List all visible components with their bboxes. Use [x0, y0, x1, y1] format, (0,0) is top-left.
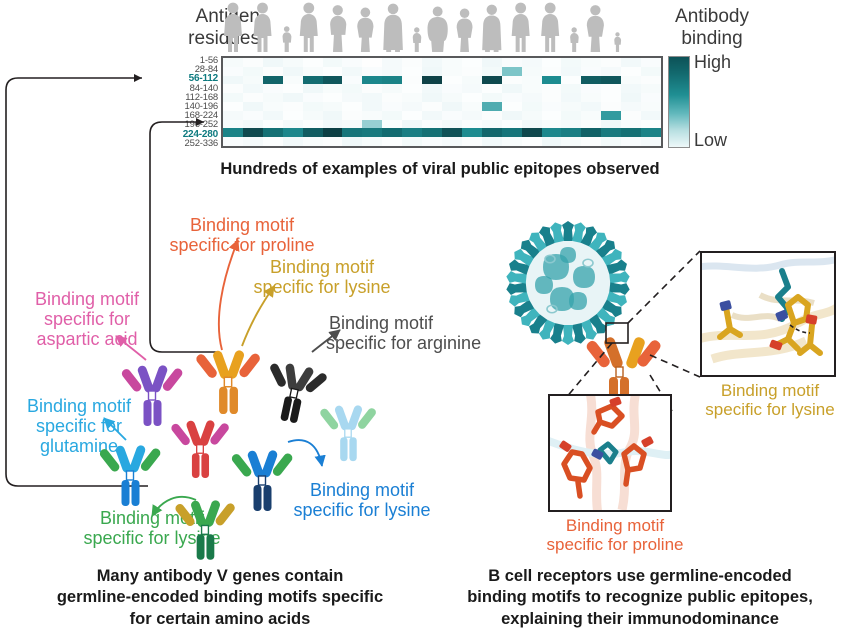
people-svg [218, 2, 668, 54]
heatmap-cell [342, 93, 362, 102]
heatmap-cell [283, 67, 303, 76]
antibody-segment [122, 480, 130, 506]
heatmap-cell [283, 76, 303, 85]
heatmap-cell [621, 111, 641, 120]
heatmap-cell [442, 137, 462, 146]
heatmap-cell [223, 67, 243, 76]
heatmap-cell [462, 102, 482, 111]
heatmap-cell [482, 120, 502, 129]
heatmap-cell [601, 67, 621, 76]
heatmap-cell [362, 58, 382, 67]
heatmap-cell [542, 67, 562, 76]
heatmap-cell [522, 128, 542, 137]
heatmap-cell [522, 67, 542, 76]
heatmap-cell [223, 76, 243, 85]
heatmap-cell [502, 102, 522, 111]
person-child [283, 26, 292, 52]
antibody-segment [254, 485, 262, 511]
virus-inner-protein [569, 292, 587, 310]
heatmap-caption: Hundreds of examples of viral public epi… [180, 160, 700, 179]
heatmap-cell [561, 102, 581, 111]
heatmap-cell [561, 120, 581, 129]
heatmap-cell [402, 76, 422, 85]
heatmap-cell [542, 128, 562, 137]
heatmap-cell [581, 84, 601, 93]
heatmap-cell [601, 58, 621, 67]
heatmap-cell [601, 120, 621, 129]
heatmap-cell [641, 128, 661, 137]
heatmap-cell [641, 102, 661, 111]
heatmap-cell [462, 93, 482, 102]
heatmap-cell [542, 120, 562, 129]
heatmap-cell [382, 58, 402, 67]
heatmap-cell [422, 128, 442, 137]
heatmap-cell [502, 58, 522, 67]
antibody-segment [127, 471, 134, 480]
inset-proline [548, 394, 672, 512]
antibody-segment [154, 400, 162, 426]
heatmap-cell [362, 67, 382, 76]
heatmap-cell [303, 137, 323, 146]
heatmap-cell [442, 93, 462, 102]
heatmap-cell [542, 137, 562, 146]
antibody-segment [149, 391, 156, 400]
heatmap-cell [522, 76, 542, 85]
heatmap[interactable] [221, 56, 663, 148]
heatmap-cell [621, 137, 641, 146]
antibody-segment [219, 387, 227, 414]
person-elder-heavy [428, 7, 448, 52]
heatmap-cell [342, 84, 362, 93]
antibody-navy [230, 449, 294, 511]
heatmap-cell [621, 93, 641, 102]
antibody-segment [197, 534, 205, 559]
person-elder-gown [383, 4, 403, 52]
heatmap-cell [243, 111, 263, 120]
heatmap-cell [482, 93, 502, 102]
heatmap-cell [442, 76, 462, 85]
heatmap-cell [283, 111, 303, 120]
heatmap-cell [581, 93, 601, 102]
antibody-purple [120, 364, 184, 426]
antibody-segment [264, 485, 272, 511]
heatmap-cell [243, 137, 263, 146]
heatmap-cell [482, 111, 502, 120]
heatmap-cell [402, 67, 422, 76]
heatmap-cell [502, 67, 522, 76]
person-adult-male [224, 3, 242, 52]
heatmap-cell [263, 67, 283, 76]
heatmap-cell [442, 58, 462, 67]
heatmap-cell [323, 93, 343, 102]
heatmap-cell [522, 111, 542, 120]
heatmap-cell [402, 84, 422, 93]
heatmap-cell [641, 111, 661, 120]
inset-lysine-svg [702, 253, 834, 375]
heatmap-cell [323, 84, 343, 93]
antibody-field [0, 200, 450, 560]
heatmap-cell [581, 58, 601, 67]
person-adult-male [254, 3, 272, 52]
heatmap-cell [542, 84, 562, 93]
heatmap-cell [641, 84, 661, 93]
heatmap-cell [283, 120, 303, 129]
heatmap-cell [502, 128, 522, 137]
heatmap-cell [422, 137, 442, 146]
heatmap-cell [402, 102, 422, 111]
heatmap-cell [382, 128, 402, 137]
heatmap-cell [522, 93, 542, 102]
inset-lysine-label: Binding motif specific for lysine [690, 381, 850, 419]
heatmap-cell [303, 58, 323, 67]
heatmap-cell [223, 93, 243, 102]
heatmap-cell [621, 67, 641, 76]
heatmap-cell [283, 58, 303, 67]
virus-inner-protein [573, 266, 595, 288]
heatmap-cell [323, 58, 343, 67]
person-child [570, 27, 579, 52]
heatmap-cell [243, 76, 263, 85]
heatmap-cell [323, 76, 343, 85]
heatmap-cell [303, 111, 323, 120]
heatmap-cell [601, 93, 621, 102]
antibody-segment [230, 387, 238, 414]
heatmap-cell [323, 137, 343, 146]
person-child [614, 32, 621, 52]
antibody-segment [201, 453, 209, 478]
person-adult-female [457, 9, 473, 52]
heatmap-cell [601, 76, 621, 85]
heatmap-cell [283, 128, 303, 137]
colorbar-high-label: High [694, 52, 731, 73]
heatmap-cell [342, 67, 362, 76]
heatmap-cell [362, 102, 382, 111]
heatmap-cell [542, 58, 562, 67]
heatmap-cell [243, 67, 263, 76]
antibody-black [258, 358, 330, 428]
heatmap-cell [422, 93, 442, 102]
heatmap-cell [482, 102, 502, 111]
heatmap-cell [303, 84, 323, 93]
heatmap-cell [422, 58, 442, 67]
heatmap-cell [621, 76, 641, 85]
heatmap-cell [342, 102, 362, 111]
heatmap-cell [283, 102, 303, 111]
heatmap-cell [522, 102, 542, 111]
arrow-lysine-blue [288, 440, 322, 466]
arrow-proline [219, 240, 238, 350]
heatmap-cell [442, 102, 462, 111]
heatmap-cell [263, 128, 283, 137]
heatmap-cell [482, 84, 502, 93]
colorbar [668, 56, 690, 148]
inset-proline-svg [550, 396, 670, 510]
heatmap-cell [561, 93, 581, 102]
heatmap-cell [342, 58, 362, 67]
heatmap-cell [641, 58, 661, 67]
colorbar-title: Antibody binding [652, 6, 772, 50]
heatmap-cell [283, 84, 303, 93]
arrow-arginine [312, 330, 340, 352]
antibody-segment [349, 437, 356, 461]
heatmap-cell [621, 58, 641, 67]
heatmap-cell [402, 93, 422, 102]
heatmap-cell [641, 67, 661, 76]
heatmap-cell [243, 128, 263, 137]
heatmap-cell [263, 120, 283, 129]
heatmap-cell [641, 137, 661, 146]
heatmap-cell [422, 102, 442, 111]
antibody-segment [259, 476, 266, 485]
heatmap-cell [502, 76, 522, 85]
heatmap-cell [323, 120, 343, 129]
heatmap-cell [382, 76, 402, 85]
caption-right: B cell receptors use germline-encoded bi… [440, 566, 840, 630]
person-elder-cane [330, 5, 348, 52]
person-adult-male [541, 3, 559, 52]
heatmap-cell [522, 120, 542, 129]
heatmap-cell [442, 128, 462, 137]
heatmap-cell [601, 102, 621, 111]
heatmap-cell [561, 84, 581, 93]
heatmap-cell [422, 84, 442, 93]
heatmap-cell [581, 137, 601, 146]
heatmap-grid [223, 58, 661, 146]
arrow-lysine-green [152, 497, 196, 516]
heatmap-cell [601, 137, 621, 146]
heatmap-cell [442, 111, 462, 120]
antibody-lightblue [319, 404, 378, 461]
antibody-segment [340, 437, 347, 461]
heatmap-cell [323, 102, 343, 111]
heatmap-cell [323, 67, 343, 76]
heatmap-cell [263, 93, 283, 102]
heatmap-cell [462, 84, 482, 93]
heatmap-cell [382, 137, 402, 146]
heatmap-cell [382, 120, 402, 129]
virus-inner-protein [560, 247, 576, 263]
antibody-segment [192, 453, 200, 478]
heatmap-cell [462, 137, 482, 146]
heatmap-cell [362, 111, 382, 120]
heatmap-cell [303, 93, 323, 102]
heatmap-cell [601, 84, 621, 93]
antibody-orange [194, 349, 261, 414]
heatmap-cell [402, 128, 422, 137]
heatmap-cell [323, 128, 343, 137]
heatmap-cell [542, 76, 562, 85]
heatmap-cell [402, 58, 422, 67]
heatmap-cell [323, 111, 343, 120]
heatmap-cell [402, 120, 422, 129]
heatmap-cell [601, 111, 621, 120]
antibody-red [170, 419, 231, 478]
heatmap-cell [243, 93, 263, 102]
heatmap-cell [303, 76, 323, 85]
heatmap-cell [522, 137, 542, 146]
virus-spike [562, 325, 574, 345]
heatmap-cell [362, 120, 382, 129]
heatmap-cell [362, 84, 382, 93]
heatmap-cell [462, 67, 482, 76]
virus-spike [562, 221, 574, 241]
heatmap-cell [382, 111, 402, 120]
heatmap-cell [462, 58, 482, 67]
heatmap-cell [522, 58, 542, 67]
heatmap-cell [581, 120, 601, 129]
heatmap-cell [263, 102, 283, 111]
heatmap-cell [621, 120, 641, 129]
heatmap-cell [263, 76, 283, 85]
heatmap-cell [561, 137, 581, 146]
heatmap-cell [223, 84, 243, 93]
antibody-segment [224, 377, 231, 386]
heatmap-cell [402, 137, 422, 146]
heatmap-cell [362, 76, 382, 85]
heatmap-cell [303, 102, 323, 111]
heatmap-cell [243, 120, 263, 129]
heatmap-cell [482, 76, 502, 85]
heatmap-cell [482, 58, 502, 67]
heatmap-cell [422, 120, 442, 129]
heatmap-cell [263, 58, 283, 67]
heatmap-cell [382, 102, 402, 111]
person-adult-male [300, 3, 318, 52]
heatmap-cell [542, 93, 562, 102]
antibody-segment [132, 480, 140, 506]
heatmap-cell [502, 137, 522, 146]
heatmap-cell [283, 93, 303, 102]
heatmap-cell [641, 93, 661, 102]
antibody-segment [206, 534, 214, 559]
antibody-segment [197, 445, 204, 454]
heatmap-cell [402, 111, 422, 120]
arrow-lysine-gold [242, 286, 274, 346]
arrow-head-mid [196, 118, 204, 126]
heatmap-cell [362, 137, 382, 146]
heatmap-cell [522, 84, 542, 93]
heatmap-cell [581, 111, 601, 120]
heatmap-cell [621, 128, 641, 137]
heatmap-cell [283, 137, 303, 146]
heatmap-cell [382, 84, 402, 93]
population-silhouettes [218, 2, 668, 54]
heatmap-cell [362, 93, 382, 102]
heatmap-cell [502, 93, 522, 102]
person-adult-male [512, 3, 530, 52]
heatmap-cell [243, 102, 263, 111]
person-adult-female [357, 8, 373, 52]
heatmap-cell [243, 84, 263, 93]
antibody-segment [144, 400, 152, 426]
heatmap-cell [462, 111, 482, 120]
heatmap-cell [263, 111, 283, 120]
person-adult-female [587, 5, 604, 52]
person-elder-gown [482, 5, 501, 52]
heatmap-cell [442, 67, 462, 76]
heatmap-cell [342, 137, 362, 146]
heatmap-cell [482, 137, 502, 146]
heatmap-cell [303, 67, 323, 76]
heatmap-cell [342, 111, 362, 120]
heatmap-cell [502, 120, 522, 129]
person-child [413, 27, 422, 52]
antibody-segment [290, 388, 298, 398]
heatmap-cell [641, 76, 661, 85]
inset-proline-label: Binding motif specific for proline [530, 516, 700, 554]
arrow-glutamine [104, 418, 126, 440]
heatmap-cell [422, 76, 442, 85]
heatmap-cell [422, 67, 442, 76]
heatmap-cell [561, 111, 581, 120]
heatmap-cell [362, 128, 382, 137]
heatmap-cell [542, 102, 562, 111]
heatmap-cell [382, 67, 402, 76]
heatmap-cell [243, 58, 263, 67]
heatmap-cell [561, 76, 581, 85]
inset-lysine [700, 251, 836, 377]
heatmap-cell [442, 120, 462, 129]
virus-inner-protein [535, 276, 553, 294]
heatmap-cell [462, 120, 482, 129]
heatmap-cell [561, 128, 581, 137]
heatmap-cell [263, 137, 283, 146]
heatmap-cell [462, 76, 482, 85]
heatmap-cell [263, 84, 283, 93]
arrow-head-top [134, 74, 142, 82]
antibody-segment [269, 362, 288, 388]
heatmap-cell [382, 93, 402, 102]
heatmap-cell [482, 128, 502, 137]
antibody-teal [98, 444, 162, 506]
heatmap-cell [342, 120, 362, 129]
heatmap-cell [223, 58, 243, 67]
arrow-aspartic [116, 336, 146, 360]
heatmap-cell [601, 128, 621, 137]
heatmap-cell [502, 84, 522, 93]
colorbar-low-label: Low [694, 130, 727, 151]
heatmap-cell [621, 102, 641, 111]
heatmap-cell [342, 76, 362, 85]
heatmap-cell [581, 128, 601, 137]
heatmap-cell [303, 120, 323, 129]
heatmap-cell [581, 67, 601, 76]
heatmap-cell [502, 111, 522, 120]
antibody-segment [202, 525, 209, 534]
heatmap-cell [442, 84, 462, 93]
heatmap-cell [482, 67, 502, 76]
heatmap-cell [542, 111, 562, 120]
heatmap-cell [581, 102, 601, 111]
heatmap-cell [422, 111, 442, 120]
heatmap-cell [641, 120, 661, 129]
heatmap-cell [581, 76, 601, 85]
virus-particle [506, 221, 631, 345]
heatmap-cell [303, 128, 323, 137]
heatmap-cell [561, 58, 581, 67]
antibody-segment [345, 429, 351, 437]
antibody-green [174, 499, 237, 560]
heatmap-cell [462, 128, 482, 137]
heatmap-cell [621, 84, 641, 93]
caption-left: Many antibody V genes contain germline-e… [20, 566, 420, 630]
heatmap-cell [342, 128, 362, 137]
heatmap-cell [561, 67, 581, 76]
